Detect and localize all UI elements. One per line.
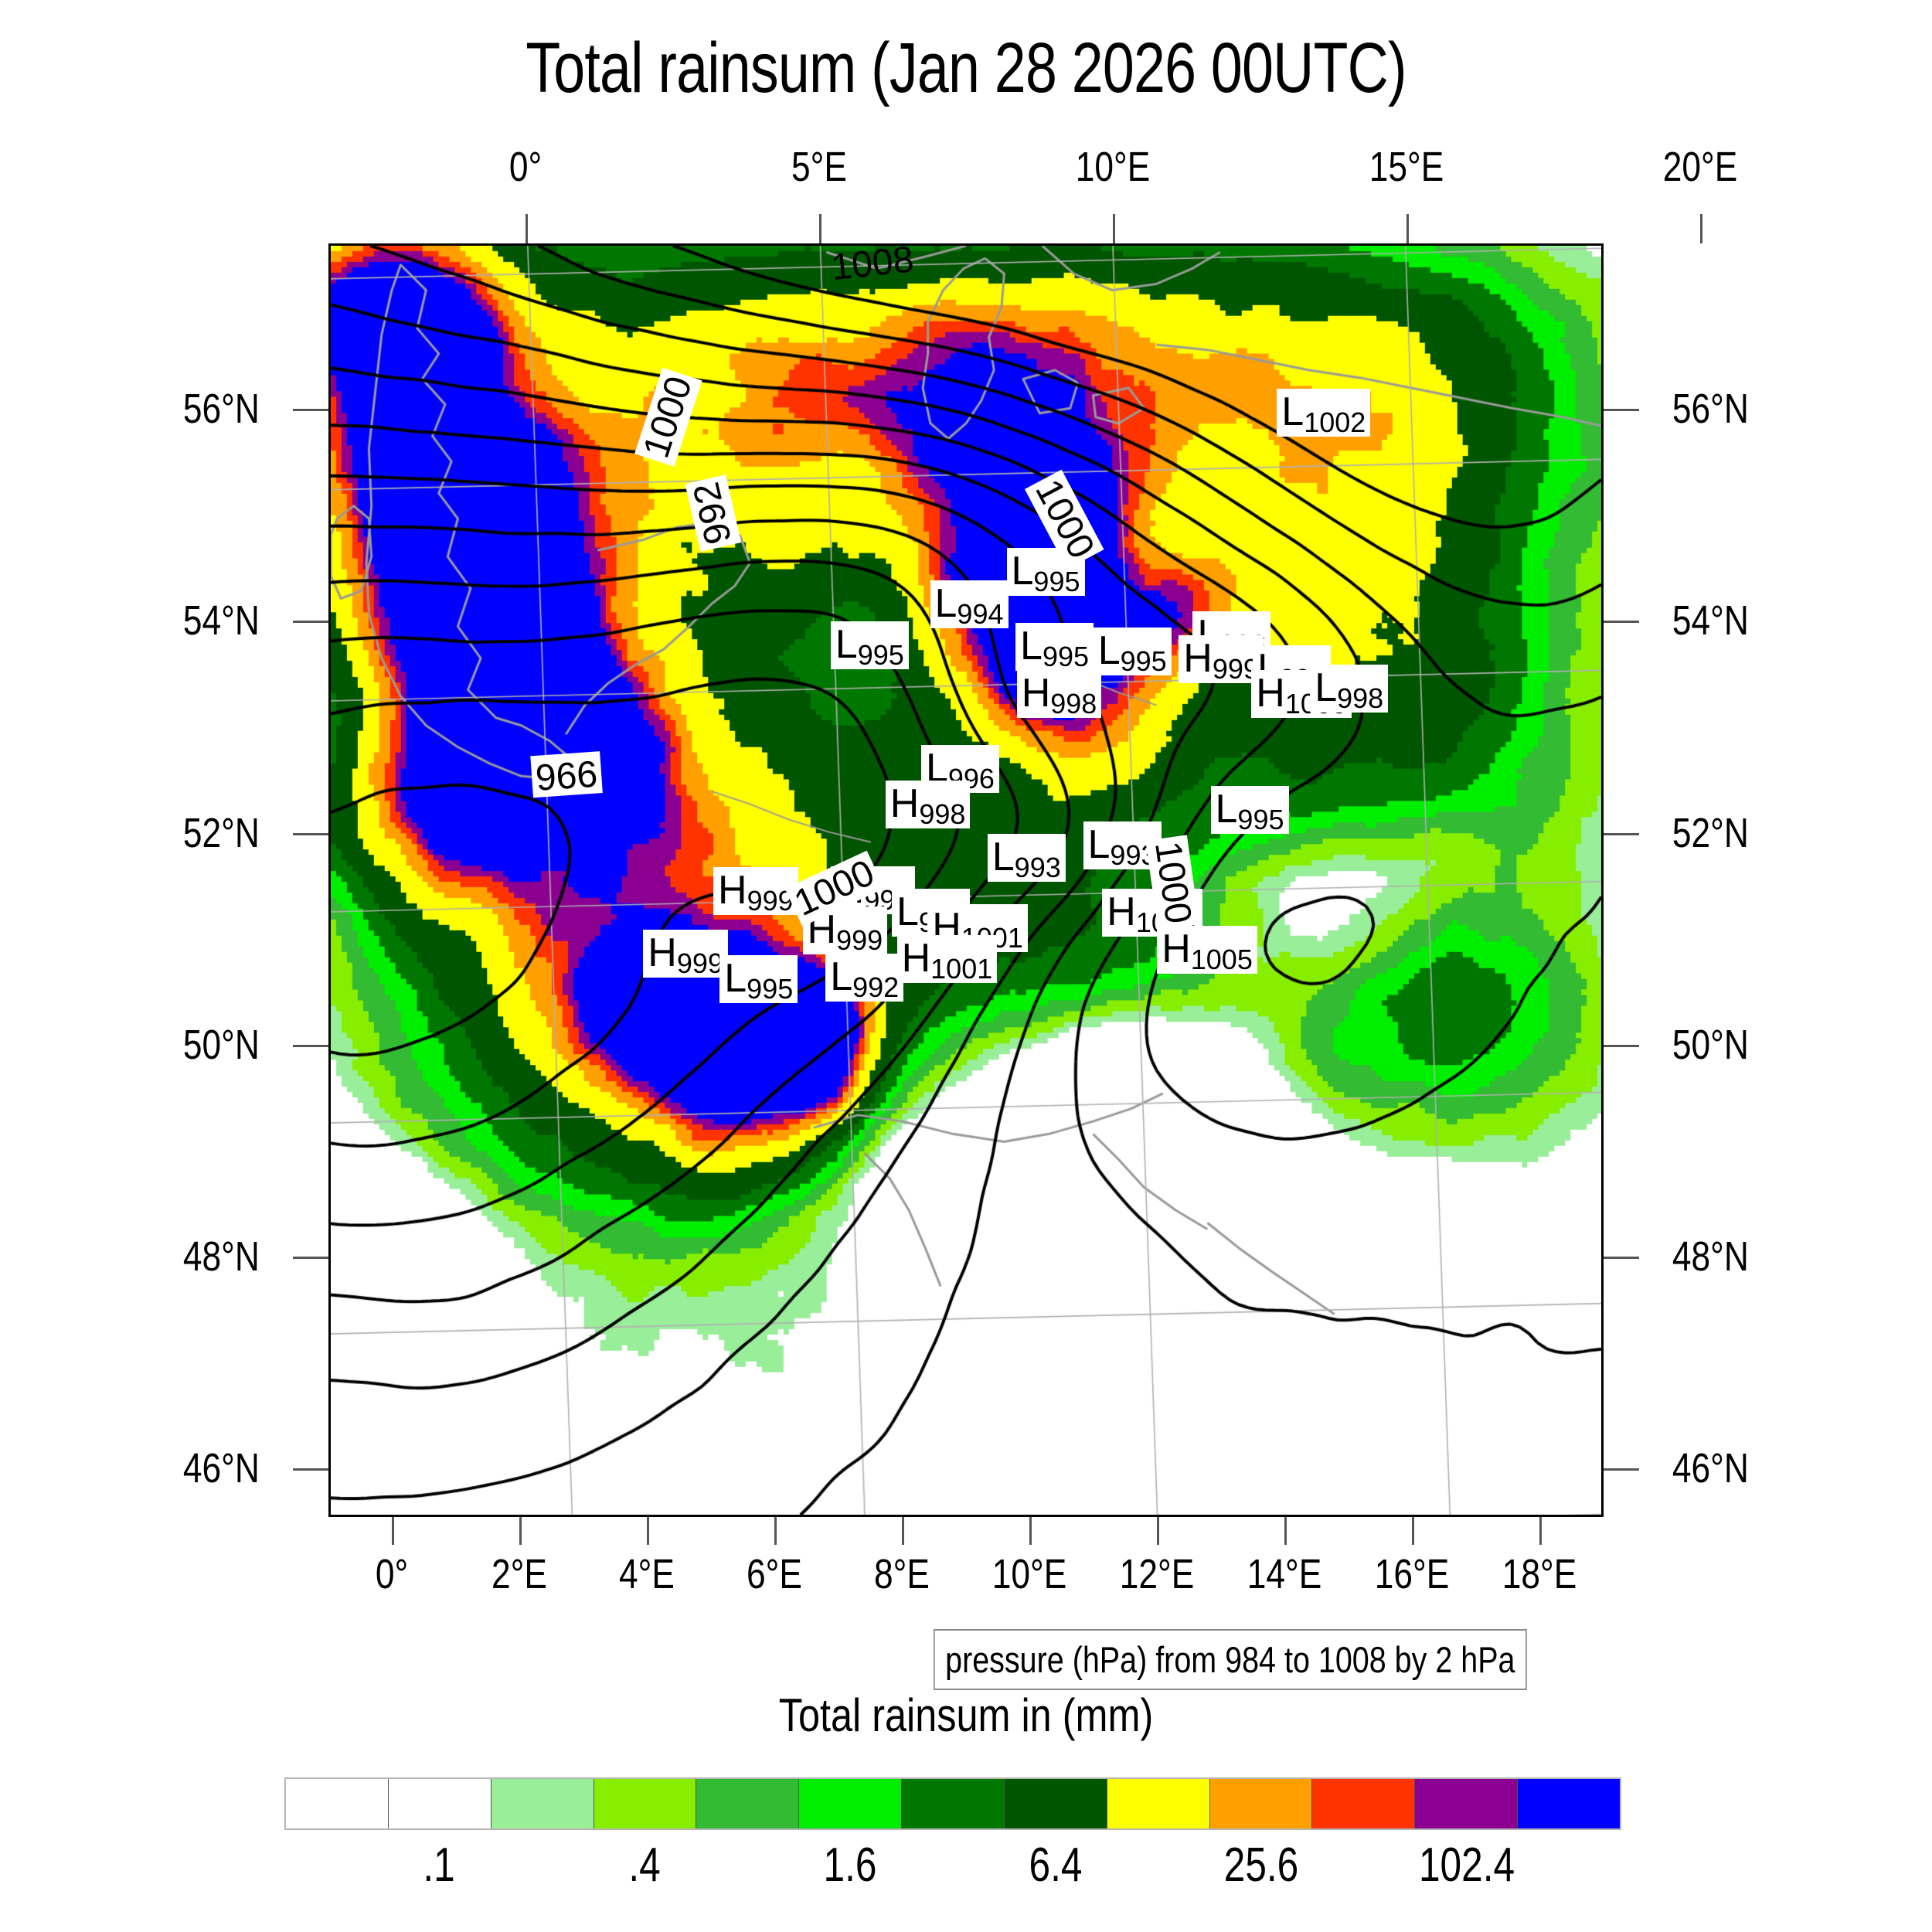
pressure-center-value: 1001 (930, 953, 992, 985)
pressure-center-value: 992 (852, 971, 899, 1003)
tick-mark-right-3 (1604, 1045, 1639, 1047)
tick-mark-right-5 (1604, 1468, 1639, 1471)
pressure-center-type: L (1281, 389, 1304, 434)
tick-mark-bottom-5 (1029, 1517, 1032, 1545)
tick-left-0: 56°N (183, 385, 260, 433)
pressure-center-type: L (992, 835, 1015, 879)
pressure-center-low-0: L1002 (1277, 389, 1370, 437)
pressure-center-value: 1002 (1304, 406, 1366, 438)
tick-mark-bottom-2 (647, 1517, 649, 1545)
tick-mark-left-5 (293, 1468, 328, 1471)
tick-mark-top-2 (1113, 214, 1115, 243)
tick-mark-top-1 (819, 214, 821, 243)
tick-mark-bottom-4 (902, 1517, 904, 1545)
pressure-center-high-11: H998 (1017, 670, 1102, 718)
tick-top-0: 0° (509, 143, 542, 191)
colorbar-cell-11[interactable] (1415, 1779, 1518, 1828)
map-plot-area[interactable]: L1002L995L994L995L995L995L996H999L997H10… (328, 243, 1604, 1517)
tick-mark-right-2 (1604, 833, 1639, 835)
pressure-center-low-4: L995 (1015, 623, 1094, 671)
tick-mark-left-1 (293, 621, 328, 623)
pressure-center-value: 995 (1033, 566, 1080, 597)
tick-bottom-1: 2°E (492, 1550, 547, 1598)
tick-bottom-0: 0° (376, 1550, 408, 1598)
tick-left-5: 46°N (183, 1444, 260, 1492)
tick-right-0: 56°N (1672, 385, 1749, 433)
pressure-center-low-16: L993 (988, 834, 1066, 882)
tick-mark-top-0 (526, 214, 528, 243)
pressure-center-type: L (1315, 665, 1337, 710)
pressure-center-value: 995 (858, 639, 904, 671)
colorbar-cell-10[interactable] (1312, 1779, 1415, 1828)
pressure-center-value: 999 (836, 924, 883, 956)
page-title: Total rainsum (Jan 28 2026 00UTC) (193, 28, 1739, 109)
pressure-center-type: H (1183, 636, 1213, 681)
tick-mark-left-4 (293, 1257, 328, 1259)
colorbar-tick-4: 25.6 (1224, 1838, 1299, 1893)
pressure-center-value: 995 (747, 973, 793, 1005)
tick-mark-bottom-1 (519, 1517, 522, 1545)
tick-mark-left-2 (293, 833, 328, 835)
pressure-center-value: 998 (919, 798, 965, 830)
tick-mark-left-3 (293, 1045, 328, 1047)
tick-bottom-7: 14°E (1247, 1550, 1321, 1598)
pressure-center-type: L (1020, 624, 1043, 668)
pressure-center-value: 993 (1015, 852, 1061, 883)
pressure-center-low-5: L995 (1094, 628, 1172, 675)
pressure-center-low-14: L995 (1211, 786, 1289, 834)
rainfall-heatmap-canvas (331, 246, 1601, 1515)
pressure-center-type: L (724, 956, 747, 1001)
tick-mark-bottom-6 (1157, 1517, 1159, 1545)
pressure-center-value: 998 (1050, 688, 1097, 719)
colorbar-cell-7[interactable] (1005, 1779, 1107, 1828)
pressure-center-low-26: L995 (719, 955, 798, 1003)
colorbar-cell-8[interactable] (1107, 1779, 1210, 1828)
tick-right-5: 46°N (1672, 1444, 1749, 1492)
pressure-center-low-3: L995 (831, 621, 909, 669)
pressure-center-type: H (1256, 671, 1285, 716)
tick-mark-right-0 (1604, 409, 1639, 411)
tick-bottom-6: 12°E (1119, 1550, 1194, 1598)
tick-left-2: 52°N (183, 809, 260, 857)
pressure-center-high-24: H999 (643, 930, 728, 978)
pressure-center-type: H (1162, 927, 1191, 971)
pressure-center-high-13: H998 (886, 781, 971, 828)
tick-bottom-3: 6°E (747, 1550, 802, 1598)
pressure-center-type: L (1216, 787, 1238, 832)
tick-top-3: 15°E (1369, 143, 1444, 191)
tick-mark-bottom-7 (1284, 1517, 1287, 1545)
colorbar-cell-6[interactable] (902, 1779, 1005, 1828)
pressure-center-low-27: L992 (825, 954, 903, 1002)
pressure-center-type: L (896, 889, 919, 934)
tick-right-1: 54°N (1672, 597, 1749, 645)
tick-top-4: 20°E (1663, 143, 1738, 191)
pressure-center-value: 995 (1043, 641, 1089, 672)
pressure-center-type: H (902, 936, 931, 981)
pressure-center-high-25: H1001 (897, 935, 998, 983)
pressure-center-low-2: L994 (930, 580, 1009, 628)
pressure-center-type: H (1022, 671, 1051, 716)
tick-bottom-2: 4°E (619, 1550, 675, 1598)
pressure-center-type: L (835, 622, 858, 667)
tick-bottom-8: 16°E (1374, 1550, 1449, 1598)
tick-left-4: 48°N (183, 1233, 260, 1281)
tick-mark-top-3 (1406, 214, 1409, 243)
tick-mark-right-4 (1604, 1257, 1639, 1259)
pressure-center-type: L (1012, 549, 1034, 594)
tick-mark-right-1 (1604, 621, 1639, 623)
colorbar-tick-2: 1.6 (823, 1838, 876, 1893)
pressure-center-low-10: L998 (1310, 665, 1388, 713)
tick-bottom-5: 10°E (992, 1550, 1067, 1598)
colorbar-cell-5[interactable] (799, 1779, 902, 1828)
colorbar[interactable] (284, 1777, 1621, 1830)
colorbar-cell-1[interactable] (389, 1779, 492, 1828)
colorbar-tick-0: .1 (423, 1838, 454, 1893)
tick-right-4: 48°N (1672, 1233, 1749, 1281)
pressure-center-type: L (830, 954, 852, 999)
pressure-center-type: H (648, 930, 677, 975)
tick-bottom-9: 18°E (1502, 1550, 1577, 1598)
colorbar-tick-3: 6.4 (1029, 1838, 1083, 1893)
pressure-center-type: L (1098, 628, 1121, 673)
colorbar-title: Total rainsum in (mm) (155, 1689, 1777, 1742)
tick-mark-bottom-8 (1412, 1517, 1414, 1545)
tick-top-1: 5°E (791, 143, 847, 191)
pressure-center-value: 995 (1121, 645, 1167, 677)
colorbar-tick-1: .4 (628, 1838, 660, 1893)
pressure-center-type: L (1088, 822, 1111, 867)
colorbar-cell-4[interactable] (696, 1779, 799, 1828)
tick-mark-bottom-9 (1539, 1517, 1542, 1545)
pressure-center-value: 995 (1237, 804, 1284, 835)
pressure-contour-legend: pressure (hPa) from 984 to 1008 by 2 hPa (934, 1629, 1527, 1690)
pressure-center-value: 994 (957, 598, 1003, 630)
tick-right-2: 52°N (1672, 809, 1749, 857)
pressure-center-type: H (1107, 889, 1136, 934)
tick-mark-left-0 (293, 409, 328, 411)
tick-mark-bottom-0 (392, 1517, 394, 1545)
tick-left-3: 50°N (183, 1021, 260, 1069)
isobar-label-996-6: 996 (530, 751, 603, 798)
colorbar-cell-9[interactable] (1210, 1779, 1313, 1828)
colorbar-cell-0[interactable] (286, 1779, 389, 1828)
pressure-center-high-23: H1005 (1157, 926, 1257, 974)
tick-bottom-4: 8°E (874, 1550, 930, 1598)
tick-right-3: 50°N (1672, 1021, 1749, 1069)
tick-mark-top-4 (1700, 214, 1702, 243)
colorbar-cell-2[interactable] (492, 1779, 594, 1828)
colorbar-cell-3[interactable] (594, 1779, 697, 1828)
colorbar-cell-12[interactable] (1518, 1779, 1620, 1828)
colorbar-tick-labels: .1.41.66.425.6102.4 (284, 1838, 1621, 1907)
tick-left-1: 54°N (183, 597, 260, 645)
tick-mark-bottom-3 (774, 1517, 777, 1545)
pressure-center-type: L (935, 581, 957, 626)
pressure-center-value: 998 (1337, 682, 1383, 714)
tick-top-2: 10°E (1076, 143, 1151, 191)
pressure-center-value: 999 (677, 947, 723, 979)
colorbar-tick-5: 102.4 (1419, 1838, 1515, 1893)
pressure-center-type: H (890, 781, 920, 826)
pressure-center-type: H (718, 868, 747, 913)
pressure-center-value: 1005 (1191, 944, 1253, 975)
